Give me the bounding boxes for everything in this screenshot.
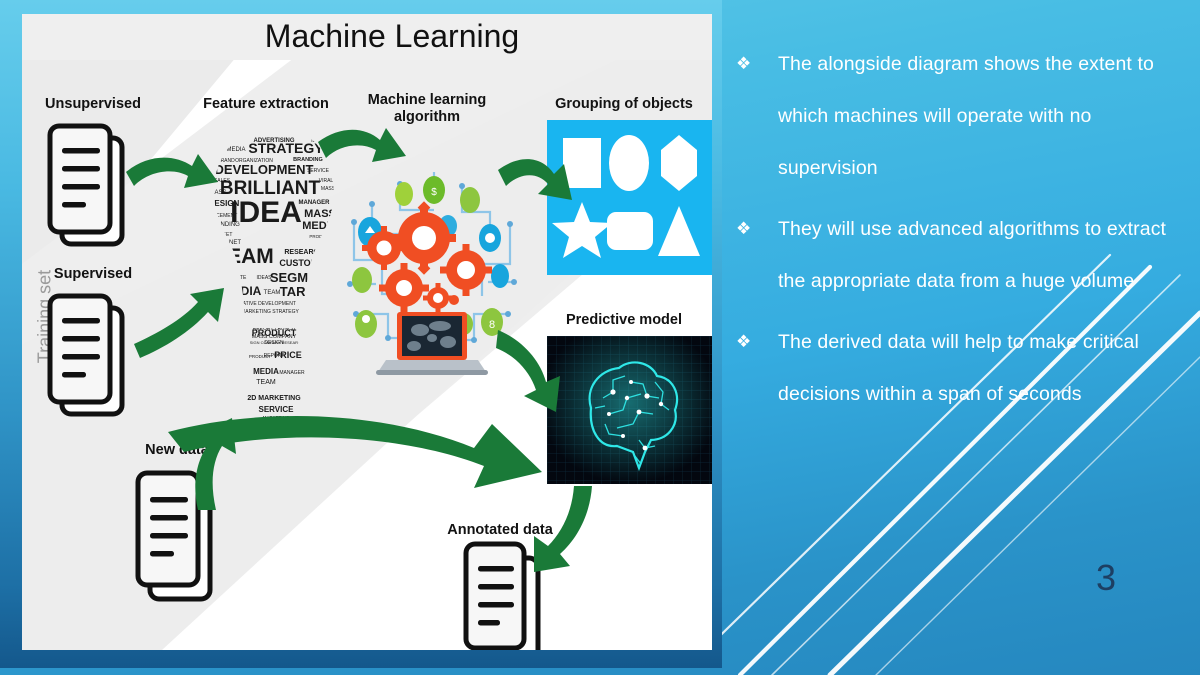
- arrow-supervised-to-features: [134, 288, 224, 358]
- diamond-bullet-icon: ❖: [728, 203, 778, 255]
- diamond-bullet-icon: ❖: [728, 38, 778, 90]
- arrow-algorithm-to-predictive: [496, 330, 560, 412]
- list-item: ❖ The alongside diagram shows the extent…: [728, 38, 1194, 194]
- list-item: ❖ The derived data will help to make cri…: [728, 316, 1194, 420]
- arrow-predictive-to-annotated: [534, 486, 592, 572]
- arrow-features-to-algorithm: [318, 128, 406, 162]
- diagram-image: Machine Learning Training set Unsupervis…: [22, 14, 712, 650]
- diagram-frame: Machine Learning Training set Unsupervis…: [0, 0, 722, 668]
- bullet-text: The derived data will help to make criti…: [778, 316, 1194, 420]
- bullet-text: They will use advanced algorithms to ext…: [778, 203, 1194, 307]
- arrow-unsupervised-to-features: [126, 154, 218, 188]
- slide-number: 3: [1096, 560, 1116, 596]
- bullet-list: ❖ The alongside diagram shows the extent…: [728, 38, 1194, 429]
- bullet-text: The alongside diagram shows the extent t…: [778, 38, 1194, 194]
- slide: 3 ❖ The alongside diagram shows the exte…: [0, 0, 1200, 675]
- arrow-algorithm-to-grouping: [498, 159, 572, 200]
- list-item: ❖ They will use advanced algorithms to e…: [728, 203, 1194, 307]
- flow-arrows: [22, 14, 712, 650]
- diamond-bullet-icon: ❖: [728, 316, 778, 368]
